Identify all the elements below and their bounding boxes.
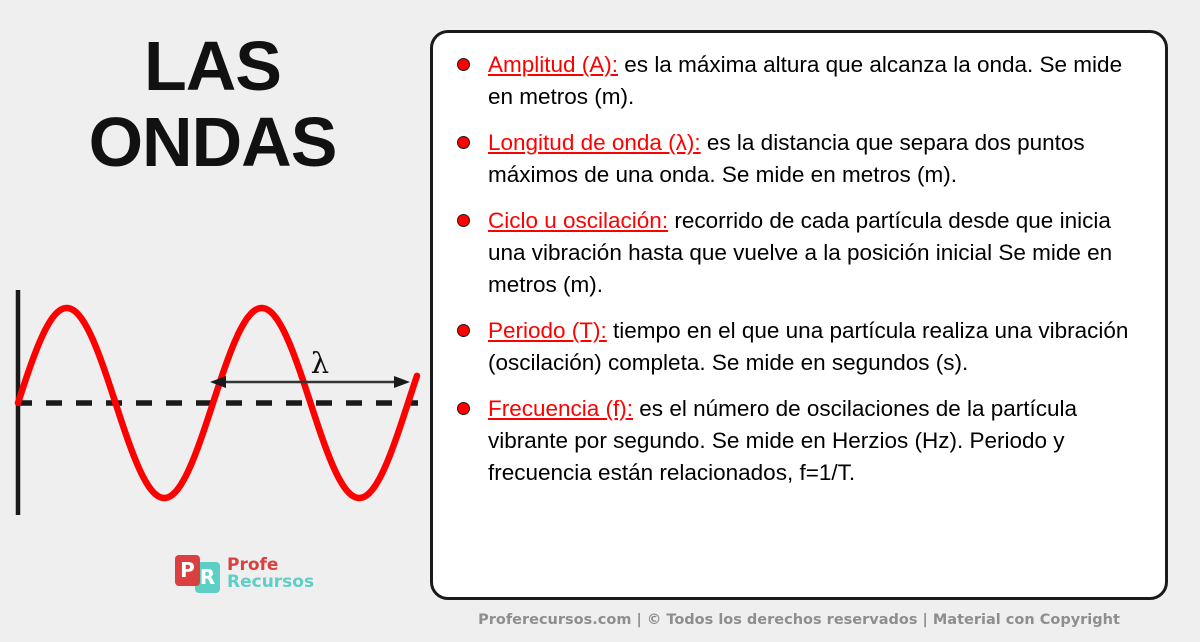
definition-term: Ciclo u oscilación: <box>488 208 668 233</box>
definition-term: Amplitud (A): <box>488 52 618 77</box>
bullet-dot-icon <box>457 136 470 149</box>
definition-text: Ciclo u oscilación: recorrido de cada pa… <box>488 205 1145 301</box>
definition-term: Periodo (T): <box>488 318 607 343</box>
bullet-dot-icon <box>457 402 470 415</box>
definition-text: Frecuencia (f): es el número de oscilaci… <box>488 393 1145 489</box>
wave-diagram: λ <box>0 275 425 525</box>
definition-text: Longitud de onda (λ): es la distancia qu… <box>488 127 1145 191</box>
definition-term: Longitud de onda (λ): <box>488 130 701 155</box>
page-title-line-2: ONDAS <box>0 104 425 180</box>
definitions-list: Amplitud (A): es la máxima altura que al… <box>447 49 1145 489</box>
footer-copyright: Proferecursos.com | © Todos los derechos… <box>430 612 1168 628</box>
logo-tiles: P R <box>175 555 220 593</box>
definition-text: Amplitud (A): es la máxima altura que al… <box>488 49 1145 113</box>
page-title: LAS ONDAS <box>0 28 425 180</box>
definition-item: Periodo (T): tiempo en el que una partíc… <box>447 315 1145 379</box>
definitions-panel: Amplitud (A): es la máxima altura que al… <box>430 30 1168 600</box>
left-column: LAS ONDAS λ P R Profe Recursos <box>0 0 425 642</box>
logo-tile-p: P <box>175 555 200 586</box>
bullet-dot-icon <box>457 324 470 337</box>
bullet-dot-icon <box>457 214 470 227</box>
logo-word-recursos: Recursos <box>227 574 314 591</box>
definition-item: Frecuencia (f): es el número de oscilaci… <box>447 393 1145 489</box>
brand-logo: P R Profe Recursos <box>175 555 314 593</box>
definition-text: Periodo (T): tiempo en el que una partíc… <box>488 315 1145 379</box>
wavelength-lambda-label: λ <box>311 346 329 380</box>
definition-item: Ciclo u oscilación: recorrido de cada pa… <box>447 205 1145 301</box>
definition-item: Amplitud (A): es la máxima altura que al… <box>447 49 1145 113</box>
definition-term: Frecuencia (f): <box>488 396 633 421</box>
bullet-dot-icon <box>457 58 470 71</box>
definition-item: Longitud de onda (λ): es la distancia qu… <box>447 127 1145 191</box>
wave-diagram-svg: λ <box>0 275 425 525</box>
page-title-line-1: LAS <box>0 28 425 104</box>
logo-wordmark: Profe Recursos <box>227 557 314 591</box>
